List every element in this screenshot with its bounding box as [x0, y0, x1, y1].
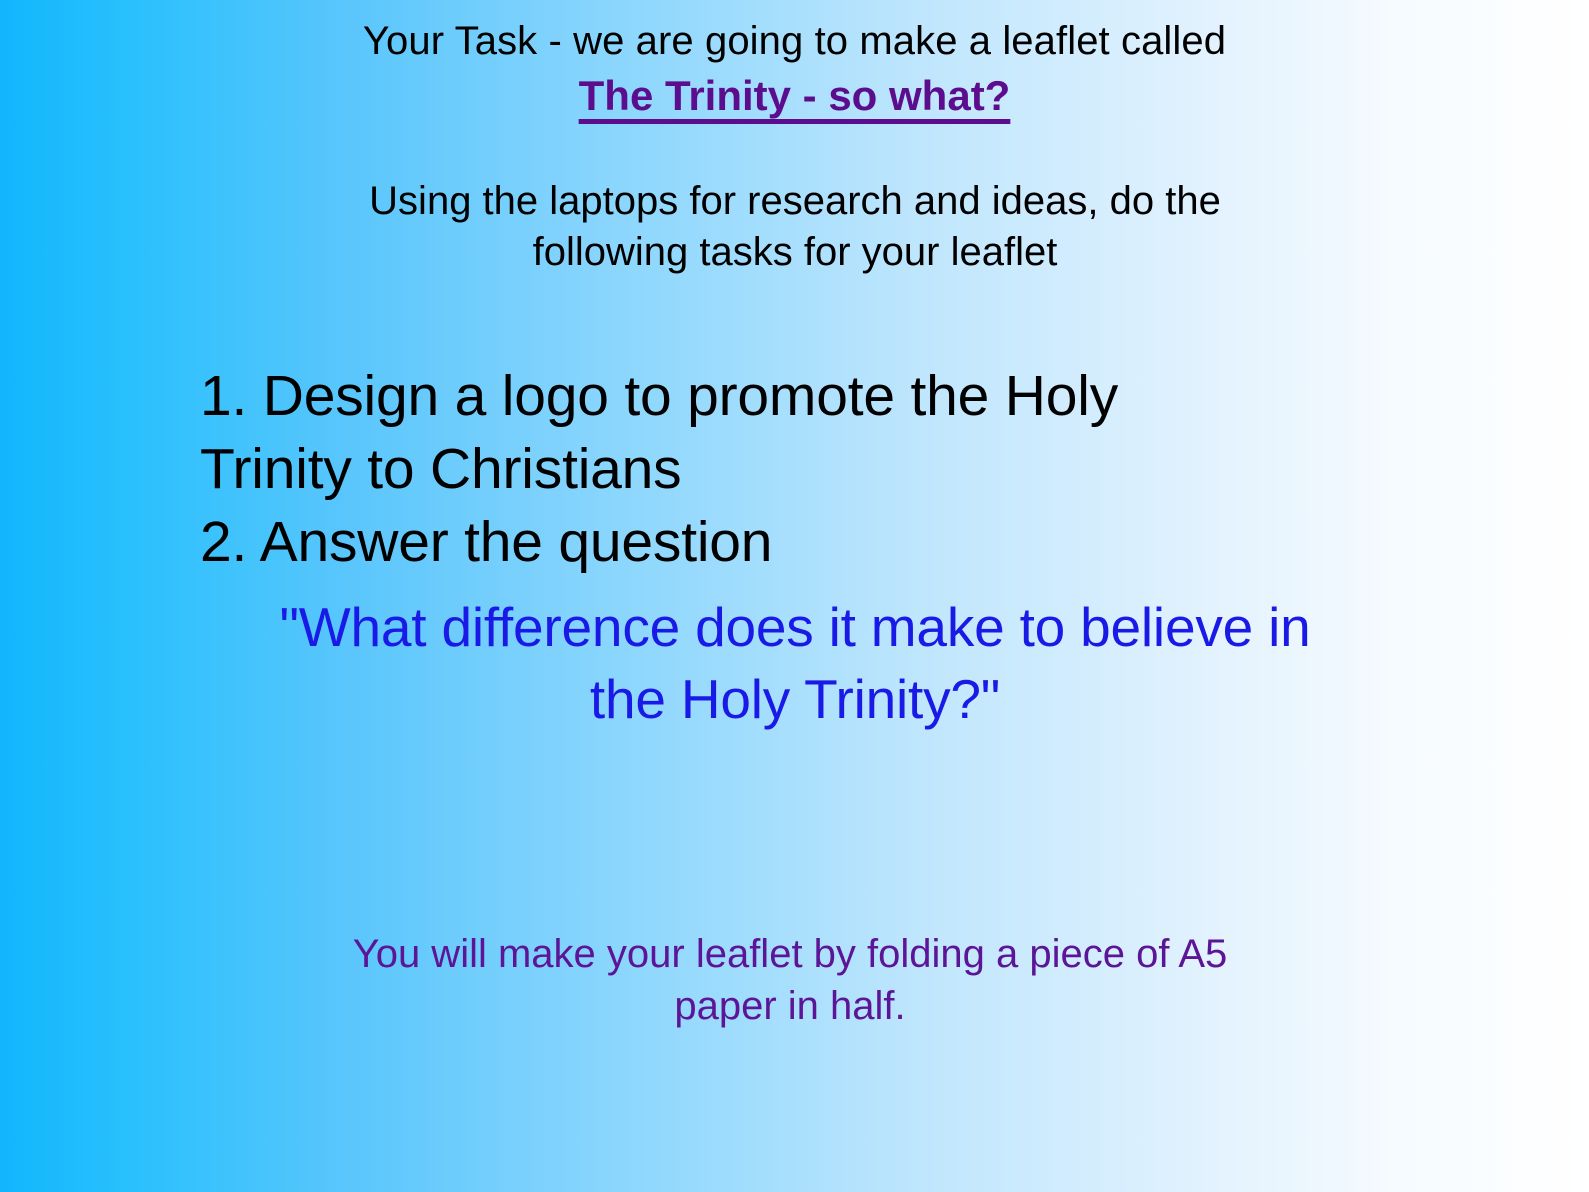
note-line-2: paper in half.: [280, 980, 1300, 1032]
task-item-2: 2. Answer the question: [200, 506, 1360, 579]
question-line-1: "What difference does it make to believe…: [200, 592, 1390, 664]
intro-block: Your Task - we are going to make a leafl…: [0, 18, 1589, 121]
question-text: "What difference does it make to believe…: [200, 592, 1390, 735]
task-item-1: 1. Design a logo to promote the Holy Tri…: [200, 360, 1360, 506]
leaflet-note: You will make your leaflet by folding a …: [280, 928, 1300, 1032]
slide-canvas: Your Task - we are going to make a leafl…: [0, 0, 1589, 1192]
task-list: 1. Design a logo to promote the Holy Tri…: [200, 360, 1360, 579]
leaflet-title: The Trinity - so what?: [579, 71, 1011, 121]
task-intro-line: Your Task - we are going to make a leafl…: [0, 18, 1589, 65]
task-item-2-line-1: 2. Answer the question: [200, 506, 1360, 579]
question-line-2: the Holy Trinity?": [200, 664, 1390, 736]
task-item-1-line-2: Trinity to Christians: [200, 433, 1360, 506]
instruction-block: Using the laptops for research and ideas…: [280, 176, 1310, 278]
instruction-line-1: Using the laptops for research and ideas…: [280, 176, 1310, 227]
instruction-line-2: following tasks for your leaflet: [280, 227, 1310, 278]
task-item-1-line-1: 1. Design a logo to promote the Holy: [200, 360, 1360, 433]
note-line-1: You will make your leaflet by folding a …: [280, 928, 1300, 980]
